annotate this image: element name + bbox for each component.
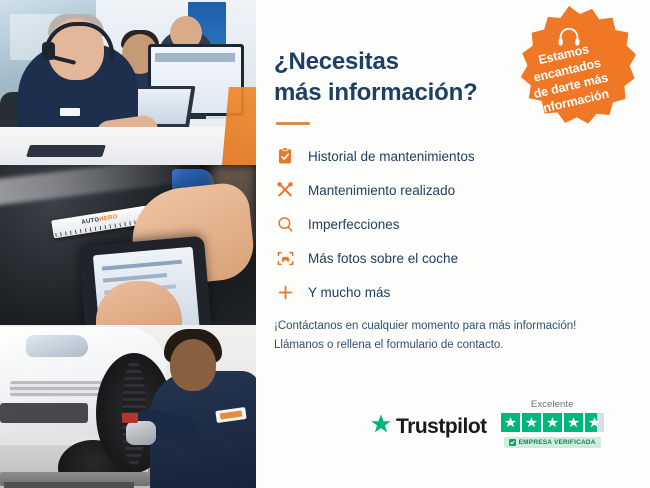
- list-item-label: Historial de mantenimientos: [308, 149, 475, 164]
- contact-line-2: Llámanos o rellena el formulario de cont…: [274, 339, 504, 351]
- headline-line-1: ¿Necesitas: [274, 48, 399, 75]
- crossed-tools-icon: [274, 179, 296, 201]
- plus-icon: [274, 281, 296, 303]
- contact-line-1: ¡Contáctanos en cualquier momento para m…: [274, 320, 576, 332]
- trustpilot-star-icon: [370, 413, 392, 440]
- content-panel: ¿Necesitas más información? Historial de…: [256, 0, 650, 488]
- star-filled: [564, 413, 583, 432]
- star-filled: [543, 413, 562, 432]
- car-photo-frame-icon: [274, 247, 296, 269]
- list-item-label: Imperfecciones: [308, 217, 400, 232]
- list-item: Y mucho más: [274, 281, 650, 303]
- badge-text: Estamos encantados de darte más informac…: [504, 34, 633, 123]
- star-rating: [501, 413, 604, 432]
- feature-list: Historial de mantenimientos Mantenimient…: [274, 145, 650, 303]
- check-icon: [509, 439, 516, 446]
- rating-label: Excelente: [531, 399, 574, 410]
- star-filled: [522, 413, 541, 432]
- list-item-label: Mantenimiento realizado: [308, 183, 455, 198]
- autohero-ruler-inspection-photo: AUTOHERO: [0, 165, 256, 325]
- list-item-label: Y mucho más: [308, 285, 390, 300]
- information-banner: AUTOHERO: [0, 0, 650, 488]
- call-centre-agents-photo: [0, 0, 256, 165]
- star-filled: [501, 413, 520, 432]
- list-item: Mantenimiento realizado: [274, 179, 650, 201]
- trustpilot-score-block: Excelente: [501, 399, 604, 448]
- list-item-label: Más fotos sobre el coche: [308, 251, 458, 266]
- title-divider: [276, 122, 310, 125]
- page-title: ¿Necesitas más información?: [274, 46, 504, 108]
- verified-label: EMPRESA VERIFICADA: [519, 439, 596, 446]
- star-partial: [585, 413, 604, 432]
- clipboard-check-icon: [274, 145, 296, 167]
- contact-text: ¡Contáctanos en cualquier momento para m…: [274, 317, 620, 354]
- mechanic-wheel-inspection-photo: [0, 325, 256, 488]
- trustpilot-wordmark: Trustpilot: [396, 415, 487, 439]
- list-item: Historial de mantenimientos: [274, 145, 650, 167]
- photo-collage: AUTOHERO: [0, 0, 256, 488]
- list-item: Más fotos sobre el coche: [274, 247, 650, 269]
- verified-badge: EMPRESA VERIFICADA: [504, 437, 601, 448]
- trustpilot-logo: Trustpilot: [370, 413, 487, 448]
- status-badge: Estamos encantados de darte más informac…: [502, 6, 636, 140]
- magnifier-icon: [274, 213, 296, 235]
- list-item: Imperfecciones: [274, 213, 650, 235]
- trustpilot-rating: Trustpilot Excelente: [370, 399, 604, 448]
- headline-line-2: más información?: [274, 79, 478, 106]
